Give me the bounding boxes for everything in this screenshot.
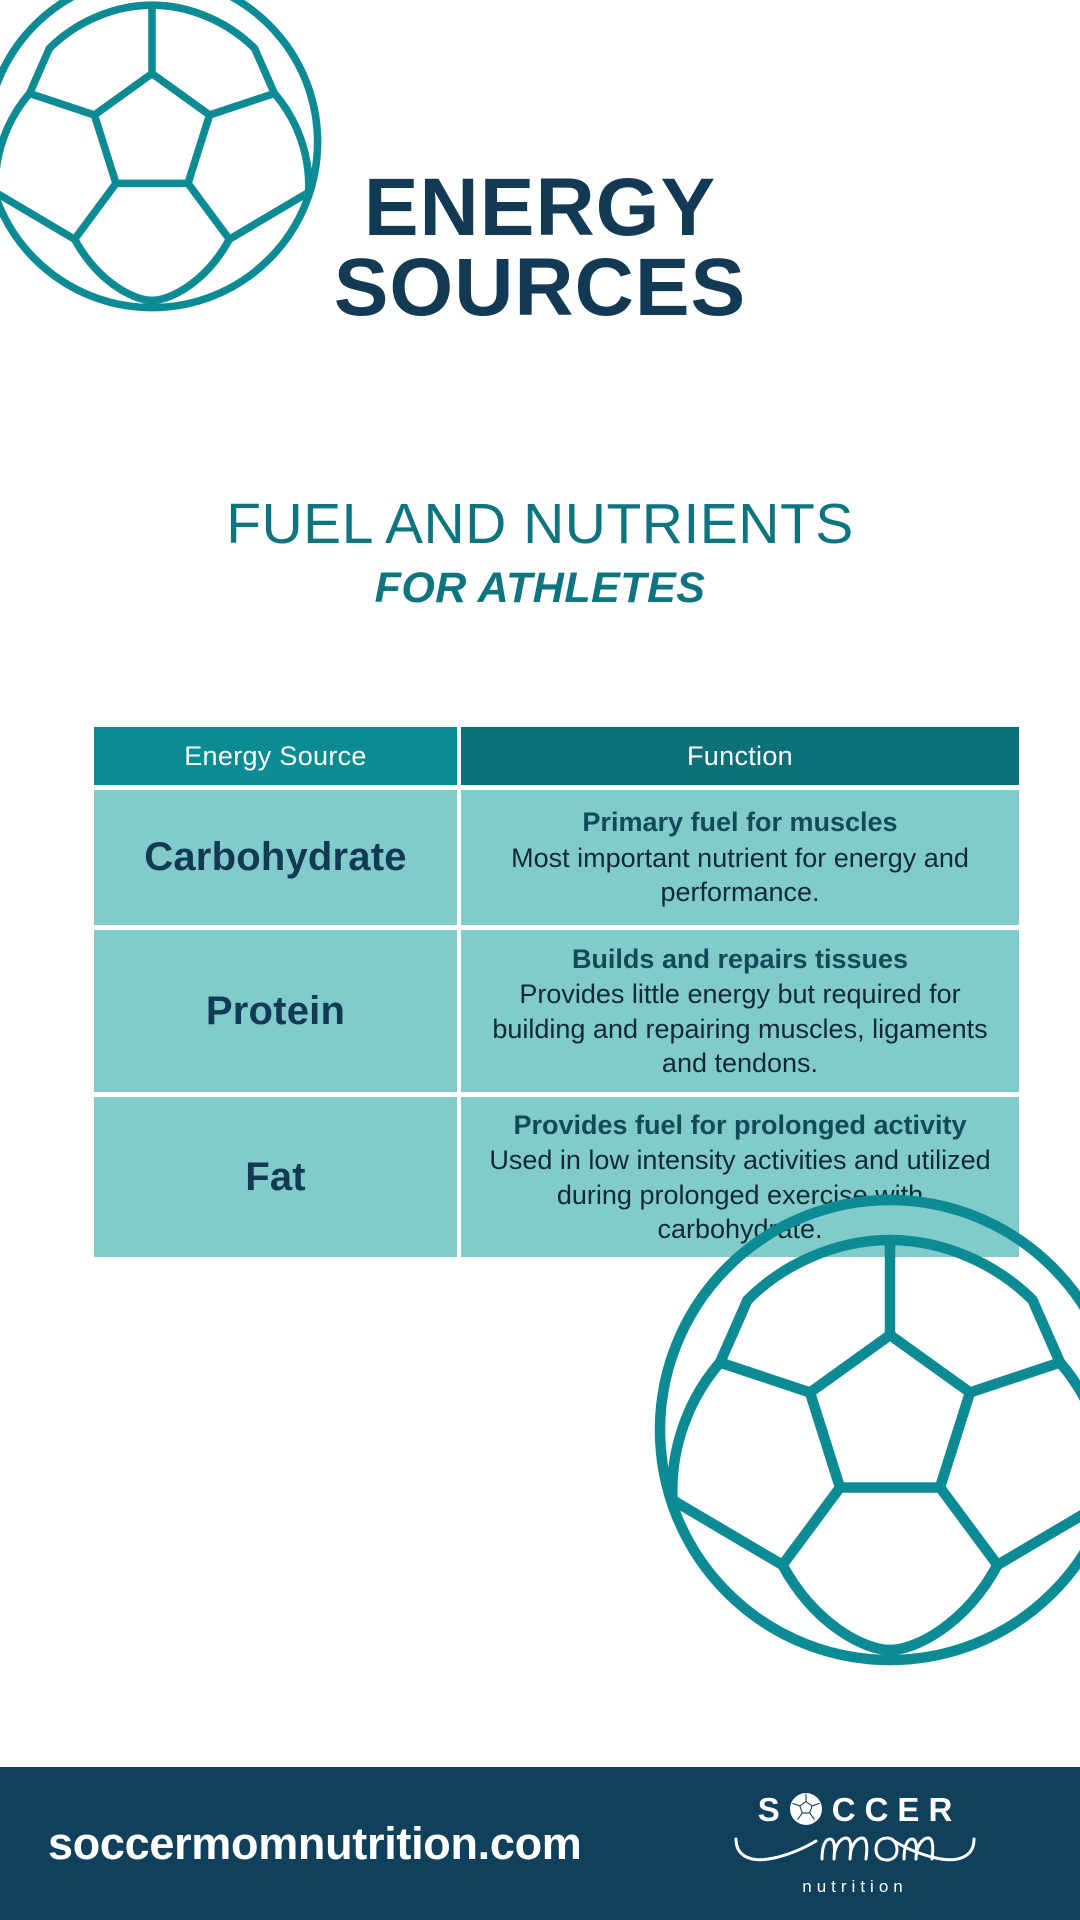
function-heading: Builds and repairs tissues	[572, 942, 908, 977]
logo-tagline: nutrition	[730, 1877, 980, 1897]
function-body: Provides little energy but required for …	[483, 977, 997, 1080]
header-label-function: Function	[687, 741, 793, 772]
source-name: Protein	[206, 989, 345, 1034]
infographic-page: ENERGY SOURCES FUEL AND NUTRIENTS FOR AT…	[0, 0, 1080, 1920]
function-body: Used in low intensity activities and uti…	[483, 1143, 997, 1246]
header-label-energy-source: Energy Source	[184, 741, 367, 772]
logo-letter: C	[832, 1793, 856, 1826]
cell-energy-source: Protein	[94, 930, 457, 1092]
function-heading: Primary fuel for muscles	[582, 805, 897, 840]
table-row: Fat Provides fuel for prolonged activity…	[94, 1097, 1019, 1257]
logo-letter: S	[758, 1793, 780, 1826]
website-url[interactable]: soccermomnutrition.com	[48, 1818, 582, 1870]
cell-function: Primary fuel for muscles Most important …	[461, 790, 1019, 925]
cell-function: Builds and repairs tissues Provides litt…	[461, 930, 1019, 1092]
title-line-2: SOURCES	[0, 248, 1080, 328]
brand-logo: S C C E R	[730, 1789, 980, 1897]
table-header-energy-source: Energy Source	[94, 727, 457, 785]
title-line-1: ENERGY	[0, 168, 1080, 248]
page-subtitle: FUEL AND NUTRIENTS FOR ATHLETES	[0, 495, 1080, 613]
table-header-function: Function	[461, 727, 1019, 785]
cell-energy-source: Fat	[94, 1097, 457, 1257]
subtitle-sub: FOR ATHLETES	[0, 564, 1080, 613]
table-row: Protein Builds and repairs tissues Provi…	[94, 930, 1019, 1092]
page-title: ENERGY SOURCES	[0, 168, 1080, 327]
logo-wordmark: S C C E R	[730, 1789, 980, 1829]
footer-bar: soccermomnutrition.com S C C	[0, 1767, 1080, 1920]
soccer-ball-icon	[789, 1792, 823, 1826]
table-row: Carbohydrate Primary fuel for muscles Mo…	[94, 790, 1019, 925]
source-name: Carbohydrate	[144, 835, 406, 880]
logo-letter: R	[928, 1793, 952, 1826]
subtitle-main: FUEL AND NUTRIENTS	[0, 495, 1080, 555]
logo-letter: C	[865, 1793, 889, 1826]
energy-sources-table: Energy Source Function Carbohydrate Prim…	[94, 727, 1019, 1262]
source-name: Fat	[245, 1155, 306, 1200]
logo-script-mom	[730, 1825, 980, 1871]
table-header-row: Energy Source Function	[94, 727, 1019, 785]
cell-function: Provides fuel for prolonged activity Use…	[461, 1097, 1019, 1257]
logo-letter: E	[897, 1793, 919, 1826]
function-heading: Provides fuel for prolonged activity	[513, 1108, 966, 1143]
function-body: Most important nutrient for energy and p…	[483, 841, 997, 910]
cell-energy-source: Carbohydrate	[94, 790, 457, 925]
